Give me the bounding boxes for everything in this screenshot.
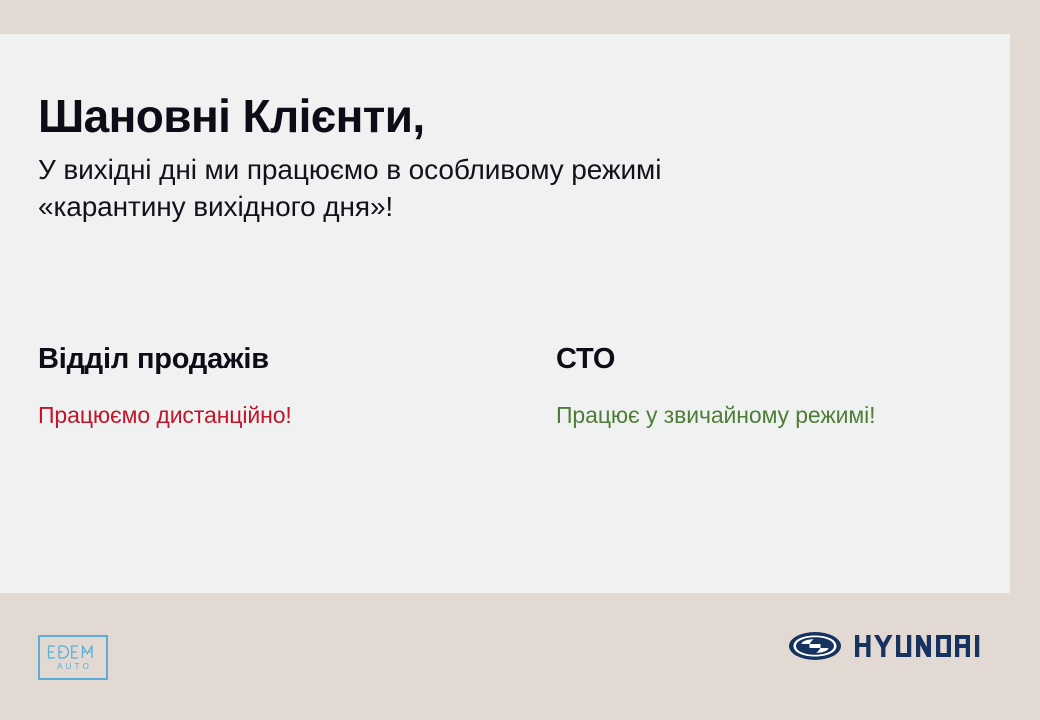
department-service-status: Працює у звичайному режимі! [556,402,875,430]
headline-block: Шановні Клієнти, У вихідні дні ми працює… [38,92,938,226]
announcement-subtitle-line-2: «карантину вихідного дня»! [38,189,938,226]
page-title: Шановні Клієнти, [38,92,938,142]
edem-wordmark-icon [47,645,99,659]
content-panel-inner: Шановні Клієнти, У вихідні дні ми працює… [38,34,1010,593]
department-sales-status: Працюємо дистанційно! [38,402,556,430]
announcement-subtitle: У вихідні дні ми працюємо в особливому р… [38,152,938,226]
edem-auto-subtitle: AUTO [54,663,92,671]
announcement-subtitle-line-1: У вихідні дні ми працюємо в особливому р… [38,152,938,189]
department-service: СТО Працює у звичайному режимі! [556,344,875,429]
footer-bar: AUTO [0,593,1040,720]
department-sales: Відділ продажів Працюємо дистанційно! [38,344,556,429]
department-sales-title: Відділ продажів [38,344,556,376]
announcement-poster: Шановні Клієнти, У вихідні дні ми працює… [0,0,1040,720]
hyundai-logo [788,631,994,661]
hyundai-emblem-icon [788,631,842,661]
hyundai-wordmark-icon [855,634,994,658]
edem-auto-logo: AUTO [38,635,108,680]
departments-row: Відділ продажів Працюємо дистанційно! СТ… [38,344,978,429]
content-panel: Шановні Клієнти, У вихідні дні ми працює… [0,34,1010,593]
department-service-title: СТО [556,344,875,376]
